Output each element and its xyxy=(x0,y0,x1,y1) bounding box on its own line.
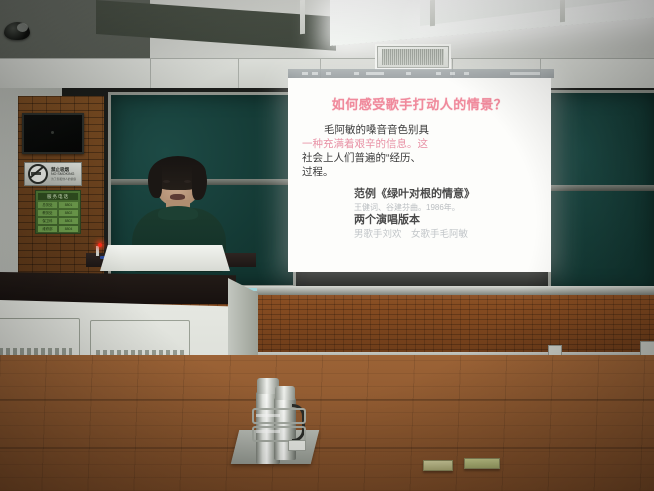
floor-seam xyxy=(0,399,654,401)
service-phone-row: 教务处 8802 xyxy=(38,210,78,216)
slide-singers: 男歌手刘欢 女歌手毛阿敏 xyxy=(354,228,537,241)
wall-mounted-monitor xyxy=(22,113,84,154)
service-phone-row: 总务处 8801 xyxy=(38,202,78,208)
classroom-photo: 禁止吸烟 NO SMOKING 为了您和他人的健康 服务电话 总务处 8801 … xyxy=(0,0,654,491)
podium-shadow-band xyxy=(0,272,236,304)
phone-name: 总务处 xyxy=(38,202,57,208)
slide-body-line: 一种充满着艰辛的信息。这 xyxy=(302,137,537,151)
service-phone-row: 维修部 8804 xyxy=(38,226,78,232)
floor-outlet-box-right[interactable] xyxy=(464,458,500,469)
phone-number: 8801 xyxy=(59,202,78,208)
slide-example-credit: 王健词、谷建芬曲。1986年。 xyxy=(354,202,537,213)
projected-toolbar[interactable] xyxy=(288,69,554,78)
ceiling-beam xyxy=(430,0,435,26)
phone-number: 8803 xyxy=(59,218,78,224)
phone-name: 维修部 xyxy=(38,226,57,232)
service-phone-header: 服务电话 xyxy=(38,193,78,200)
lecturer-eye-left xyxy=(163,180,170,183)
toolbar-item[interactable] xyxy=(312,72,318,75)
no-smoking-icon xyxy=(28,164,48,184)
no-smoking-text: 禁止吸烟 NO SMOKING 为了您和他人的健康 xyxy=(51,167,76,182)
no-smoking-sign: 禁止吸烟 NO SMOKING 为了您和他人的健康 xyxy=(24,162,82,186)
vent-mesh xyxy=(382,49,444,65)
toolbar-item[interactable] xyxy=(510,72,540,75)
phone-name: 保卫科 xyxy=(38,218,57,224)
presentation-slide: 如何感受歌手打动人的情景？ 毛阿敏的嗓音音色别具 一种充满着艰辛的信息。这 社会… xyxy=(288,78,551,272)
slide-example-title: 范例《绿叶对根的情意》 xyxy=(354,187,537,202)
slide-body: 毛阿敏的嗓音音色别具 一种充满着艰辛的信息。这 社会上人们普遍的“经历、 过程。 xyxy=(302,123,537,179)
chalkboard-right xyxy=(548,90,654,294)
toolbar-item[interactable] xyxy=(464,72,469,75)
slide-title: 如何感受歌手打动人的情景？ xyxy=(302,94,537,113)
lecturer-eye-right xyxy=(184,180,191,183)
phone-name: 教务处 xyxy=(38,210,57,216)
toolbar-item[interactable] xyxy=(354,72,359,75)
lecturer-hair-side-left xyxy=(148,166,162,198)
toolbar-item[interactable] xyxy=(366,72,384,75)
phone-number: 8802 xyxy=(59,210,78,216)
chalkboard-rail xyxy=(551,185,654,191)
service-phone-sign: 服务电话 总务处 8801 教务处 8802 保卫科 8803 维修部 8804 xyxy=(35,190,81,234)
toolbar-item[interactable] xyxy=(326,72,331,75)
ceiling-beam xyxy=(560,0,565,22)
podium-front-top xyxy=(100,245,230,271)
lecturer-hair-side-right xyxy=(192,166,207,200)
toolbar-item[interactable] xyxy=(302,72,308,75)
ceiling-air-vent-icon xyxy=(375,44,451,70)
lecturer-turtleneck-collar xyxy=(158,206,198,220)
power-led-indicator xyxy=(98,243,102,247)
dome-security-camera-icon xyxy=(4,22,30,40)
projection-screen: 如何感受歌手打动人的情景？ 毛阿敏的嗓音音色别具 一种充满着艰辛的信息。这 社会… xyxy=(288,78,551,272)
toolbar-item[interactable] xyxy=(450,72,455,75)
soffit-edge-line xyxy=(0,58,654,59)
slide-body-line: 社会上人们普遍的“经历、 xyxy=(302,151,537,165)
slide-body-line: 过程。 xyxy=(302,165,537,179)
thermos-cap-right xyxy=(275,386,295,400)
slide-body-line: 毛阿敏的嗓音音色别具 xyxy=(302,123,537,137)
ceiling-beam xyxy=(300,0,305,34)
toolbar-item[interactable] xyxy=(436,72,441,75)
phone-number: 8804 xyxy=(59,226,78,232)
slide-versions-title: 两个演唱版本 xyxy=(354,213,537,228)
no-smoking-sub: 为了您和他人的健康 xyxy=(51,177,76,182)
floor-outlet-box-left[interactable] xyxy=(423,460,453,471)
slide-example-block: 范例《绿叶对根的情意》 王健词、谷建芬曲。1986年。 两个演唱版本 男歌手刘欢… xyxy=(302,187,537,241)
service-phone-row: 保卫科 8803 xyxy=(38,218,78,224)
toolbar-item[interactable] xyxy=(406,72,411,75)
thermos-cage-upper xyxy=(252,408,306,424)
mic-stand xyxy=(96,246,99,256)
equipment-tag xyxy=(288,440,306,451)
wooden-floor xyxy=(0,355,654,491)
floor-seam xyxy=(0,447,654,449)
